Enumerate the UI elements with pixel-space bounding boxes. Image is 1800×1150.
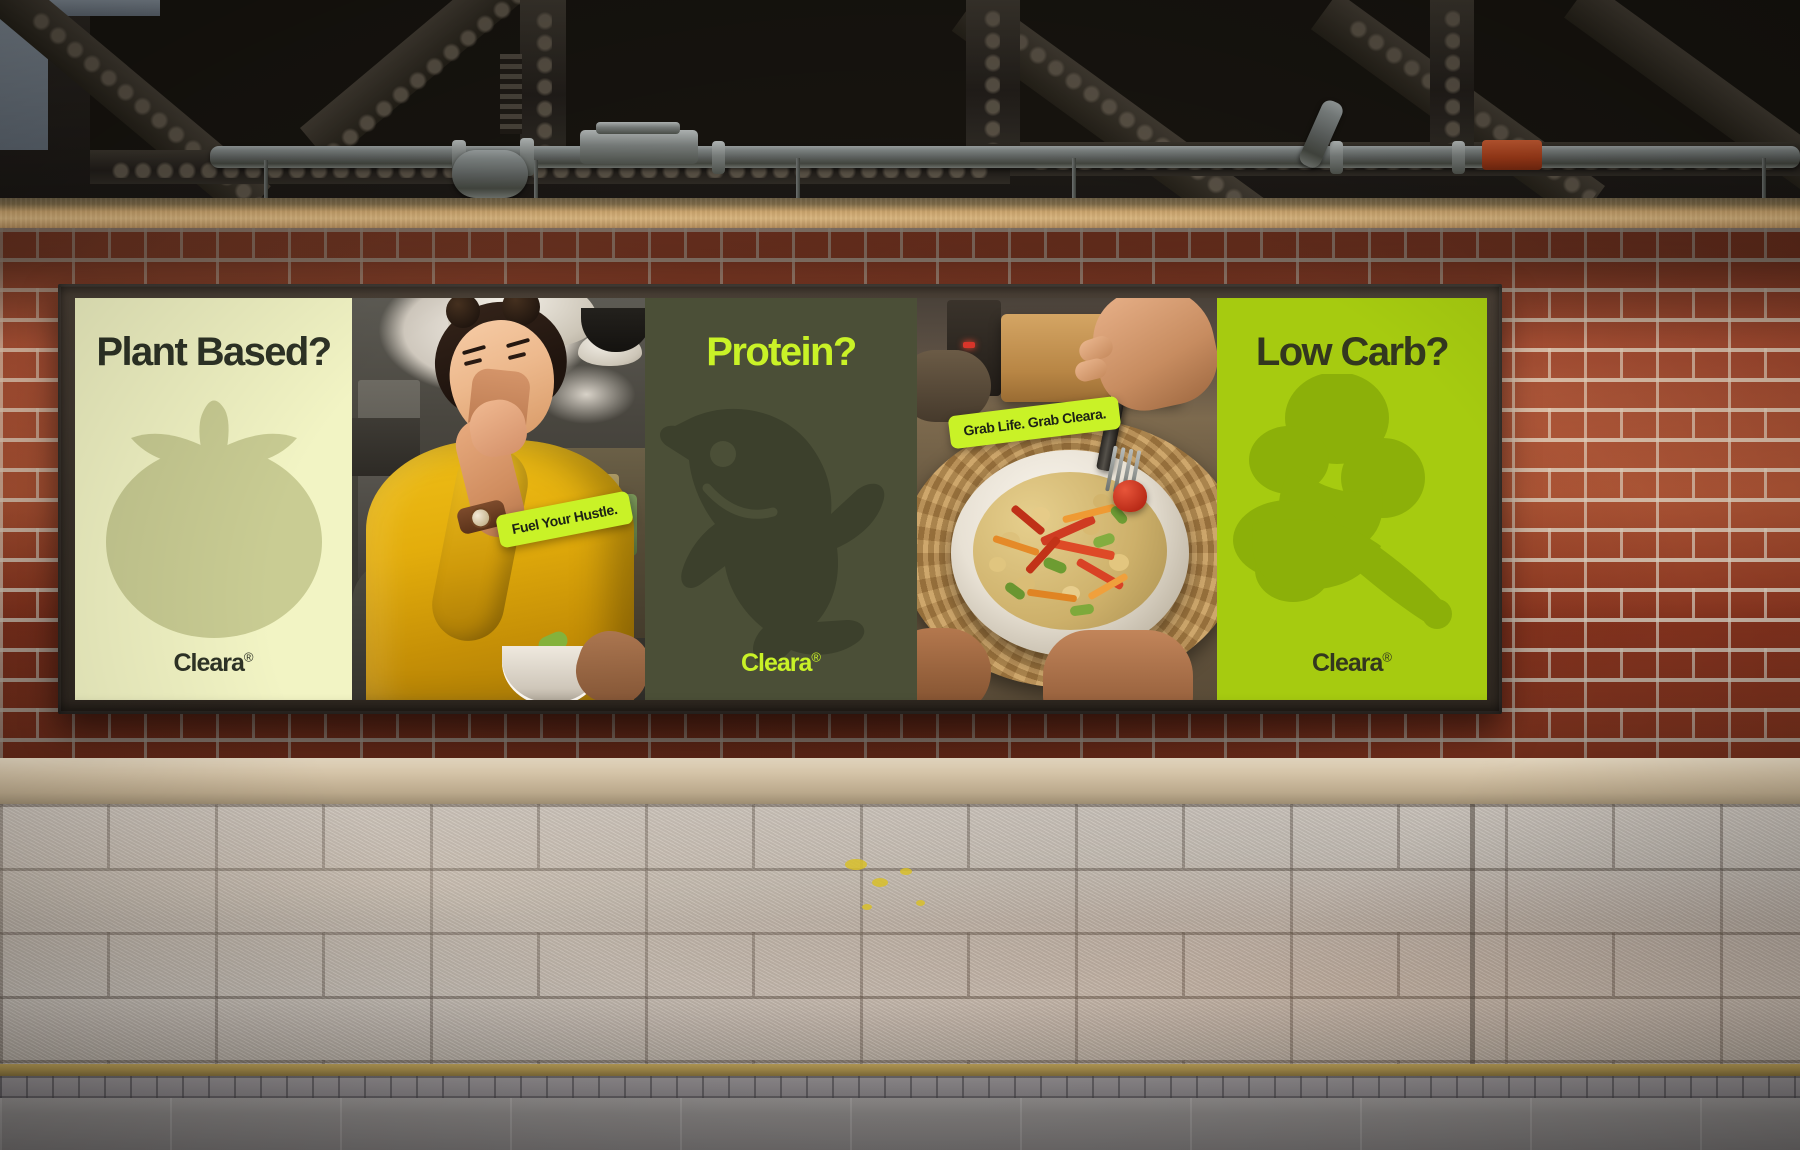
- poster-photo-salad-bowl[interactable]: Grab Life. Grab Cleara.: [917, 298, 1217, 700]
- poster-headline-low-carb: Low Carb?: [1217, 332, 1487, 372]
- registered-trademark-icon: ®: [1382, 650, 1392, 665]
- cleara-logo-low-carb: Cleara®: [1217, 649, 1487, 678]
- cleara-wordmark: Cleara: [1312, 649, 1382, 677]
- kerb: [0, 1064, 1800, 1076]
- led-indicator: [963, 342, 975, 348]
- grey-stone-block-wall: [0, 804, 1800, 1064]
- poster-strip: Plant Based? Cleara®: [75, 298, 1487, 700]
- poster-headline-plant-based: Plant Based?: [75, 332, 352, 372]
- registered-trademark-icon: ®: [244, 650, 254, 665]
- cleara-wordmark: Cleara: [741, 649, 811, 677]
- cherry-tomato: [1113, 480, 1147, 512]
- tomato-silhouette: [99, 390, 329, 640]
- poster-photo-woman-eating[interactable]: Fuel Your Hustle.: [352, 298, 645, 700]
- billboard[interactable]: Plant Based? Cleara®: [58, 284, 1502, 714]
- cleara-logo-plant-based: Cleara®: [75, 649, 352, 678]
- photo-chickpea-salad-bowl: [917, 298, 1217, 700]
- pavement: [0, 1098, 1800, 1150]
- cleara-wordmark: Cleara: [173, 649, 243, 677]
- poster-protein[interactable]: Protein? Cleara®: [645, 298, 917, 700]
- cobble-strip: [0, 1076, 1800, 1098]
- hand-lower: [1043, 630, 1193, 700]
- broccoli-leaf-silhouette: [1227, 374, 1477, 654]
- stone-cap-course: [0, 758, 1800, 804]
- poster-plant-based[interactable]: Plant Based? Cleara®: [75, 298, 352, 700]
- fish-silhouette: [651, 398, 911, 678]
- ceramic-bowl: [951, 450, 1189, 656]
- concrete-ledge: [0, 198, 1800, 232]
- steel-bridge-girders: [0, 0, 1800, 205]
- poster-headline-protein: Protein?: [645, 332, 917, 372]
- registered-trademark-icon: ®: [811, 650, 821, 665]
- cleara-logo-protein: Cleara®: [645, 649, 917, 678]
- poster-low-carb[interactable]: Low Carb?: [1217, 298, 1487, 700]
- scene-root: Plant Based? Cleara®: [0, 0, 1800, 1150]
- pot: [917, 350, 991, 422]
